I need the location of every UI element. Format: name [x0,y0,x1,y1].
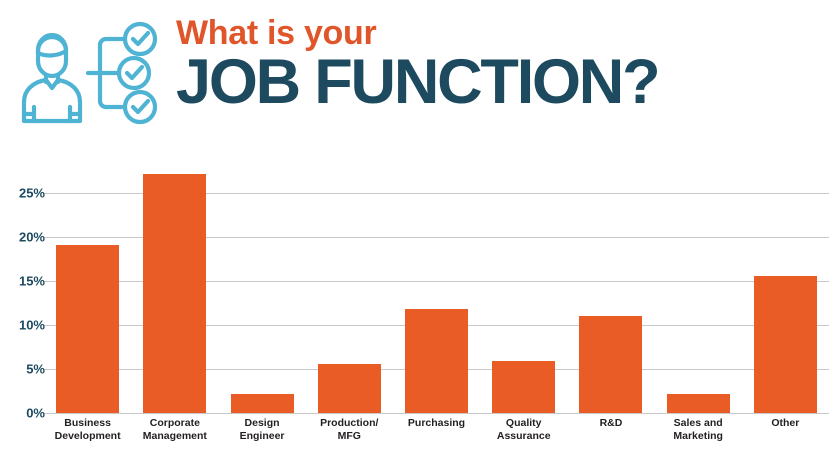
bar-group[interactable]: Purchasing [405,171,468,413]
header: What is your JOB FUNCTION? [0,0,840,140]
bar-series: Business DevelopmentCorporate Management… [44,171,829,413]
bar-group[interactable]: Design Engineer [231,171,294,413]
page-title: JOB FUNCTION? [176,50,836,114]
gridline-0% [44,413,829,414]
bar[interactable] [318,364,381,413]
bar-group[interactable]: Sales and Marketing [667,171,730,413]
bar[interactable] [231,394,294,413]
bar-group[interactable]: Business Development [56,171,119,413]
infographic-page: What is your JOB FUNCTION? 0%5%10%15%20%… [0,0,840,454]
bar-group[interactable]: Corporate Management [143,171,206,413]
bar[interactable] [56,245,119,413]
y-axis-tick-label: 10% [5,318,45,333]
bar-group[interactable]: Other [754,171,817,413]
title-block: What is your JOB FUNCTION? [176,14,836,130]
y-axis-tick-label: 20% [5,230,45,245]
bar-group[interactable]: Production/ MFG [318,171,381,413]
bar[interactable] [405,309,468,413]
bar[interactable] [667,394,730,413]
bar[interactable] [754,276,817,413]
bar[interactable] [143,174,206,413]
x-axis-tick-label: Other [733,417,837,430]
plot-area: 0%5%10%15%20%25% Business DevelopmentCor… [44,171,829,413]
bar-group[interactable]: R&D [579,171,642,413]
bar-chart: 0%5%10%15%20%25% Business DevelopmentCor… [0,140,840,454]
y-axis-tick-label: 15% [5,274,45,289]
bar[interactable] [579,316,642,413]
bar-group[interactable]: Quality Assurance [492,171,555,413]
y-axis-tick-label: 5% [5,362,45,377]
bar[interactable] [492,361,555,413]
person-with-checklist-icon [12,18,172,128]
y-axis-tick-label: 25% [5,186,45,201]
